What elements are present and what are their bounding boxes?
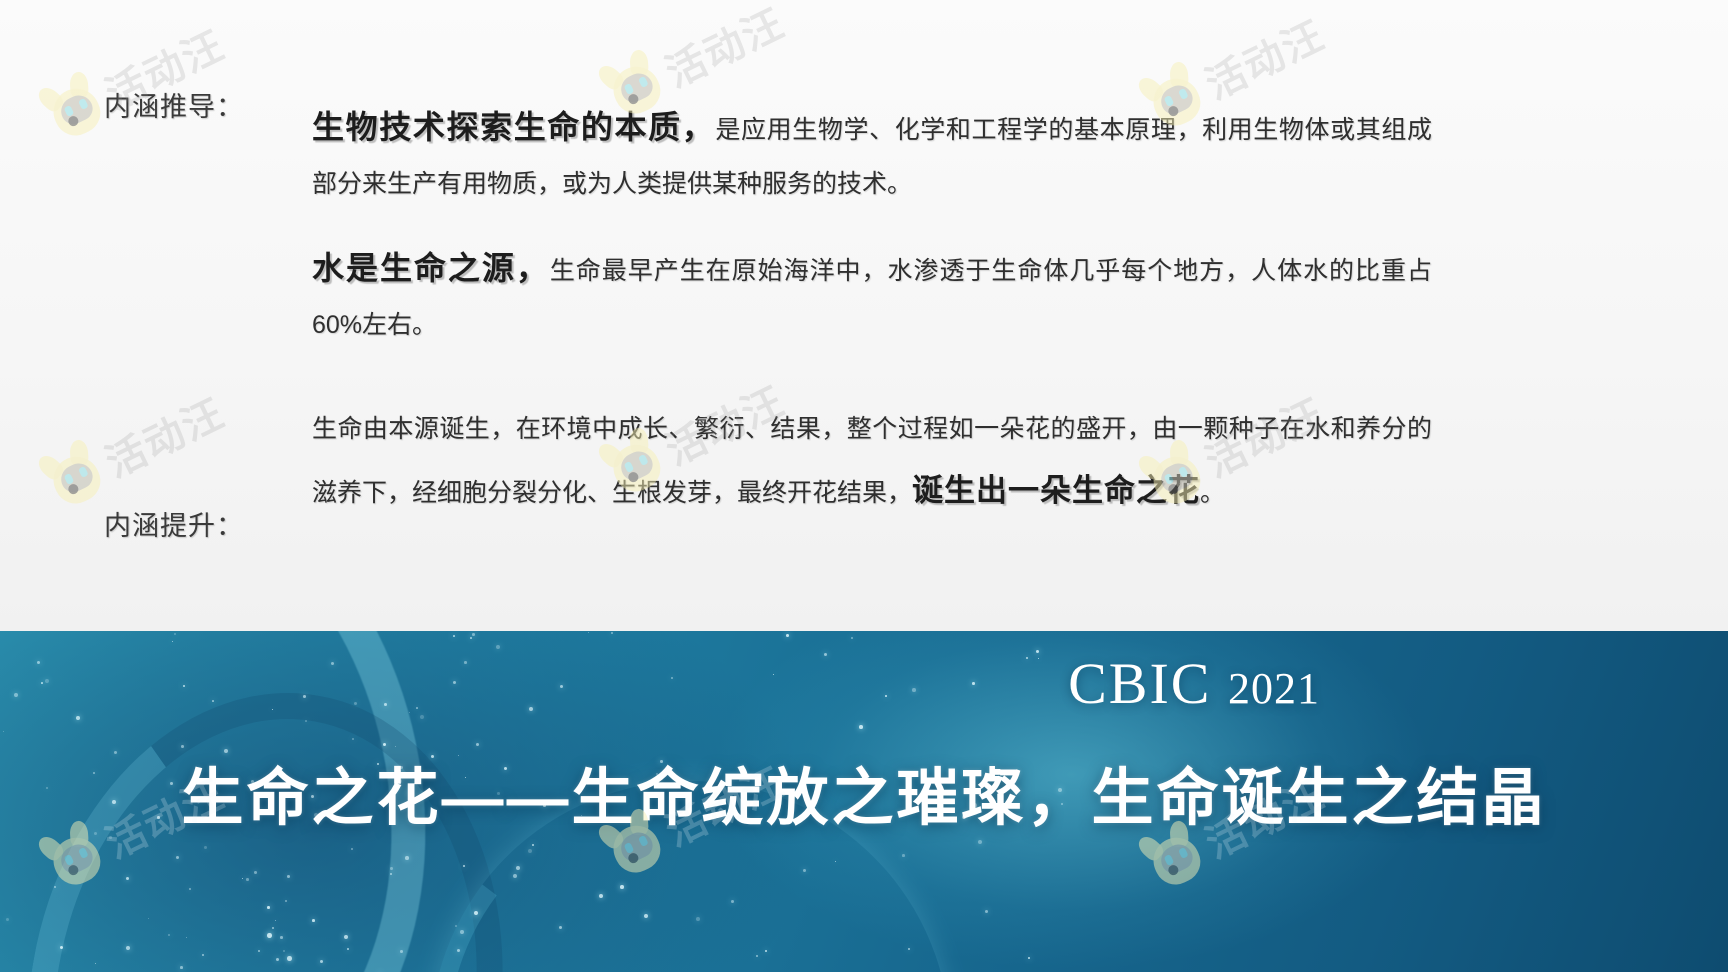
slide-root: 内涵推导： 内涵提升： 生物技术探索生命的本质，是应用生物学、化学和工程学的基本… (0, 0, 1728, 972)
watermark-label: 活动汪 (1194, 3, 1333, 110)
paragraph-water: 水是生命之源，生命最早产生在原始海洋中，水渗透于生命体几乎每个地方，人体水的比重… (312, 241, 1432, 352)
paragraph-3-body: 生命由本源诞生，在环境中成长、繁衍、结果，整个过程如一朵花的盛开，由一颗种子在水… (312, 415, 1432, 507)
paragraph-biotechnology: 生物技术探索生命的本质，是应用生物学、化学和工程学的基本原理，利用生物体或其组成… (312, 100, 1432, 211)
section-label-derivation: 内涵推导： (104, 85, 244, 124)
watermark-label: 活动汪 (654, 0, 793, 99)
paragraph-life-flower: 生命由本源诞生，在环境中成长、繁衍、结果，整个过程如一朵花的盛开，由一颗种子在水… (312, 398, 1432, 524)
watermark-label: 活动汪 (94, 381, 233, 488)
section-label-elevation: 内涵提升： (104, 504, 244, 543)
cbic-brand-text: CBIC (1068, 651, 1211, 716)
mascot-icon (37, 439, 115, 517)
paragraph-1-lead: 生物技术探索生命的本质， (312, 109, 715, 145)
mascot-icon (37, 71, 115, 149)
content-area: 内涵推导： 内涵提升： 生物技术探索生命的本质，是应用生物学、化学和工程学的基本… (0, 0, 1728, 631)
paragraph-2-lead: 水是生命之源， (312, 250, 550, 286)
cbic-brand-mark: CBIC 2021 (1068, 650, 1320, 717)
watermark: 活动汪 (37, 13, 233, 148)
banner-title: 生命之花——生命绽放之璀璨，生命诞生之结晶 (0, 747, 1728, 837)
bottom-banner: CBIC 2021 生命之花——生命绽放之璀璨，生命诞生之结晶 活动汪 活动汪 … (0, 631, 1728, 972)
watermark: 活动汪 (37, 381, 233, 516)
paragraph-3-tail: 诞生出一朵生命之花 (912, 473, 1200, 508)
cbic-year-text: 2021 (1228, 664, 1320, 713)
paragraph-3-tail-punct: 。 (1200, 479, 1225, 507)
body-text-column: 生物技术探索生命的本质，是应用生物学、化学和工程学的基本原理，利用生物体或其组成… (312, 100, 1432, 524)
